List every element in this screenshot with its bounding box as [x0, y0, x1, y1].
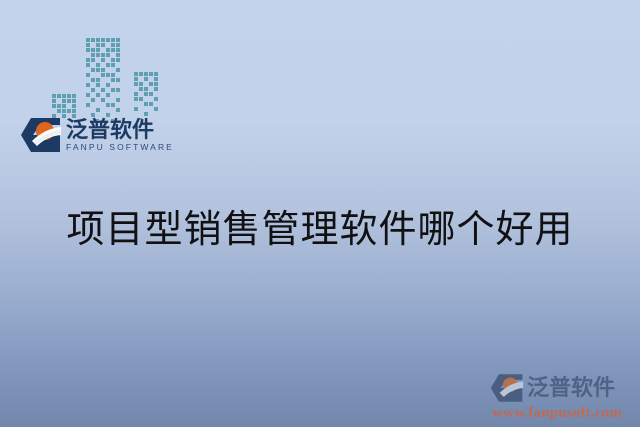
page-title: 项目型销售管理软件哪个好用: [0, 208, 640, 254]
watermark-logo: 泛普软件: [490, 371, 636, 405]
watermark: 泛普软件 www.fanpusoft.com: [490, 371, 636, 425]
page-title-text: 项目型销售管理软件哪个好用: [66, 209, 573, 251]
watermark-url: www.fanpusoft.com: [492, 405, 636, 422]
brand-logo-text: 泛普软件 FANPU SOFTWARE: [66, 118, 174, 152]
brand-name-en: FANPU SOFTWARE: [66, 142, 174, 152]
brand-logo: 泛普软件 FANPU SOFTWARE: [20, 112, 172, 158]
brand-name-cn: 泛普软件: [66, 118, 174, 141]
fanpu-logo-mark-icon: [20, 117, 62, 153]
fanpu-logo-mark-icon: [490, 373, 524, 403]
slide-canvas: 泛普软件 FANPU SOFTWARE 项目型销售管理软件哪个好用 泛普软件 w…: [0, 0, 640, 427]
watermark-name-cn: 泛普软件: [527, 377, 615, 399]
pixel-skyline-graphic: [52, 32, 172, 120]
